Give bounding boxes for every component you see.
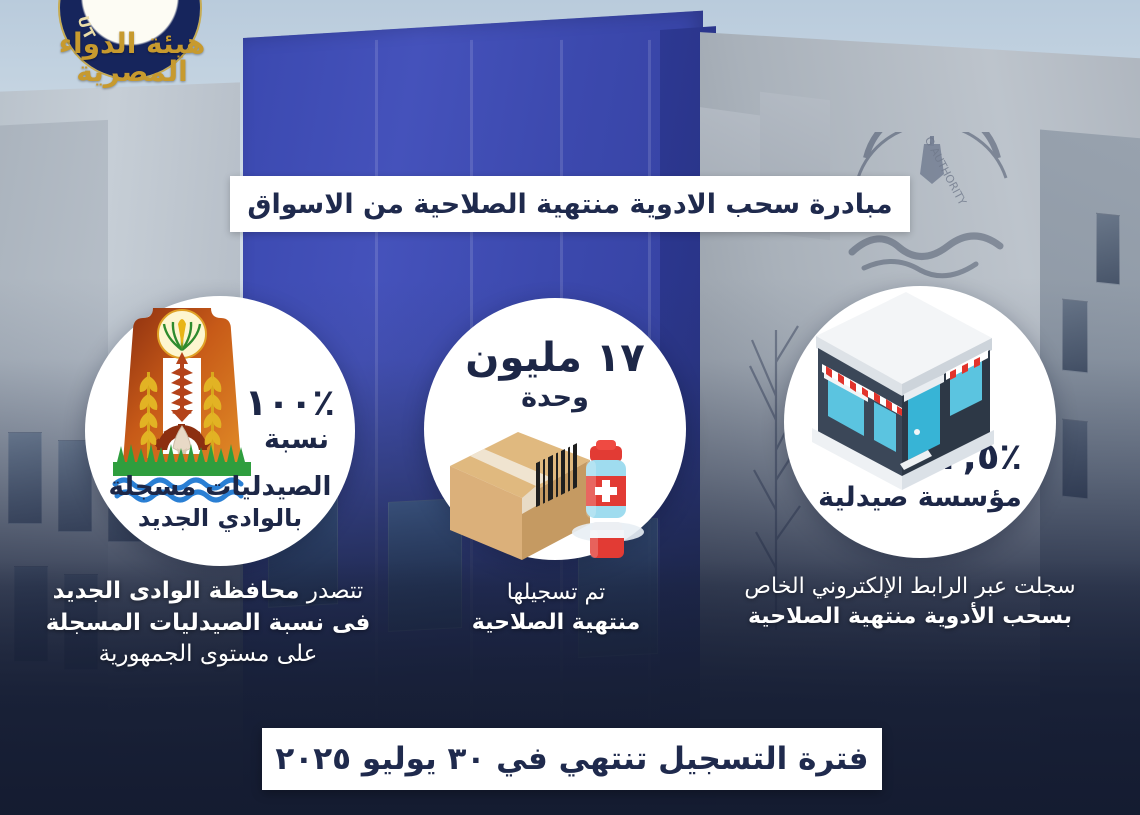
caption-middle: تم تسجيلها منتهية الصلاحية (422, 578, 690, 639)
caption-left-line2: فى نسبة الصيدليات المسجلة (12, 608, 404, 640)
pharmacy-storefront-icon (778, 284, 1018, 514)
caption-left: تتصدر محافظة الوادى الجديد فى نسبة الصيد… (12, 576, 404, 671)
stat-value-label-mid: وحدة (424, 382, 686, 414)
stat-value-mid: ١٧ مليون (424, 334, 686, 382)
eda-logo-arabic-name: هيئة الدواء المصرية (34, 30, 230, 86)
caption-middle-line2: منتهية الصلاحية (422, 608, 690, 638)
stat-label-left-line2: بالوادي الجديد (85, 504, 355, 533)
stat-circle-units-registered: ١٧ مليون وحدة (424, 298, 686, 560)
stat-label-left-line1: الصيدليات مسجلة (85, 472, 355, 503)
caption-right-line2: بسحب الأدوية منتهية الصلاحية (700, 602, 1120, 632)
caption-left-line3: على مستوى الجمهورية (12, 639, 404, 671)
page-title: مبادرة سحب الادوية منتهية الصلاحية من ال… (247, 189, 892, 220)
caption-left-line1-bold: محافظة الوادى الجديد (53, 578, 300, 604)
infographic-canvas: G AUTHORITY (0, 0, 1140, 815)
eda-logo: AN DRUG AUT هيئة الدواء المصرية (34, 0, 230, 88)
title-banner: مبادرة سحب الادوية منتهية الصلاحية من ال… (230, 176, 910, 232)
caption-middle-line1: تم تسجيلها (422, 578, 690, 608)
deadline-text: فترة التسجيل تنتهي في ٣٠ يوليو ٢٠٢٥ (275, 741, 868, 777)
stat-value-left: ٪١٠٠ (245, 384, 335, 421)
stat-circle-pharmacies-new-valley: ٪١٠٠ نسبة الصيدليات مسجلة بالوادي الجديد (85, 296, 355, 566)
medicine-box-and-bottles-icon (440, 414, 650, 564)
caption-right: سجلت عبر الرابط الإلكتروني الخاص بسحب ال… (700, 572, 1120, 633)
caption-right-line1: سجلت عبر الرابط الإلكتروني الخاص (700, 572, 1120, 602)
caption-left-line1-light: تتصدر (307, 578, 363, 604)
deadline-banner: فترة التسجيل تنتهي في ٣٠ يوليو ٢٠٢٥ (262, 728, 882, 790)
stat-value-label-left: نسبة (264, 424, 329, 455)
